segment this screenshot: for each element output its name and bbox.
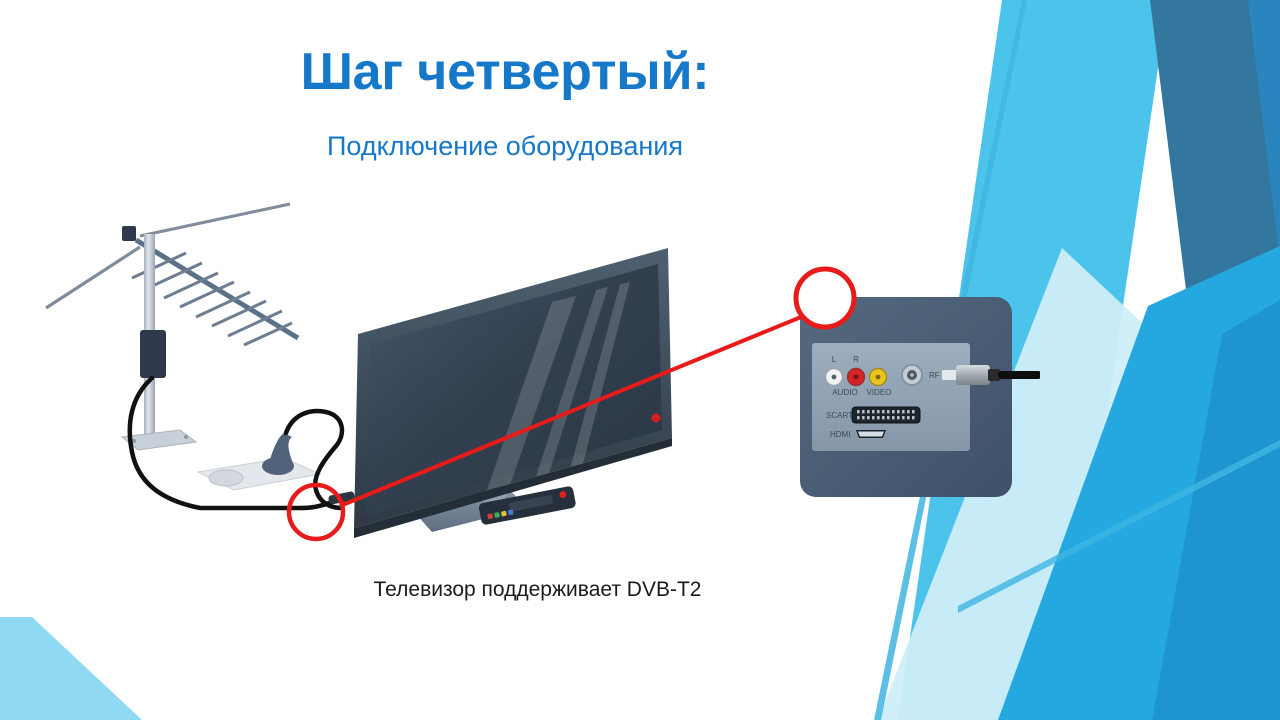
antenna-amplifier-box — [140, 330, 166, 378]
presentation-slide: Шаг четвертый: Подключение оборудования — [0, 0, 1280, 720]
scart-port[interactable] — [852, 407, 920, 423]
socket-plug-neck — [268, 433, 294, 466]
remote-color-button-yellow — [501, 511, 507, 517]
coax-cable-lead — [998, 371, 1040, 379]
antenna-feed-block — [122, 226, 136, 241]
video-group-label: VIDEO — [867, 388, 892, 397]
yagi-antenna — [46, 204, 298, 450]
hdmi-port[interactable] — [856, 430, 886, 438]
audio-left-label: L — [832, 355, 837, 364]
bg-shape-right-deep-bottom — [1152, 300, 1280, 720]
scart-label: SCART — [826, 411, 853, 420]
slide-title: Шаг четвертый: — [0, 44, 1010, 101]
hdmi-label: HDMI — [830, 430, 850, 439]
cable-tv-connector — [328, 491, 355, 505]
remote-color-button-green — [494, 512, 500, 518]
antenna-reflector-arm — [46, 247, 140, 308]
remote-color-button-red — [487, 513, 493, 519]
antenna-wall-socket — [198, 433, 320, 490]
bg-shape-bottom-left-wedge — [0, 617, 142, 720]
rf-in-port[interactable] — [902, 365, 922, 385]
tv-back-panel-zoom: L R AUDIO VIDEO RF IN SCART — [790, 285, 1040, 515]
remote-color-button-blue — [508, 509, 514, 515]
flat-screen-tv — [354, 248, 672, 538]
bg-shape-right-deep-steel — [1150, 0, 1280, 338]
slide-subtitle: Подключение оборудования — [0, 130, 1010, 162]
audio-right-label: R — [853, 355, 859, 364]
slide-caption: Телевизор поддерживает DVB-T2 — [0, 578, 1075, 602]
antenna-top-director — [140, 204, 290, 236]
rca-jack-group — [826, 369, 887, 386]
tv-power-led — [652, 414, 661, 423]
audio-group-label: AUDIO — [832, 388, 857, 397]
socket-hole — [209, 470, 243, 486]
bg-shape-right-bright-blue — [1248, 0, 1280, 262]
cable-socket-to-tv — [286, 411, 342, 508]
